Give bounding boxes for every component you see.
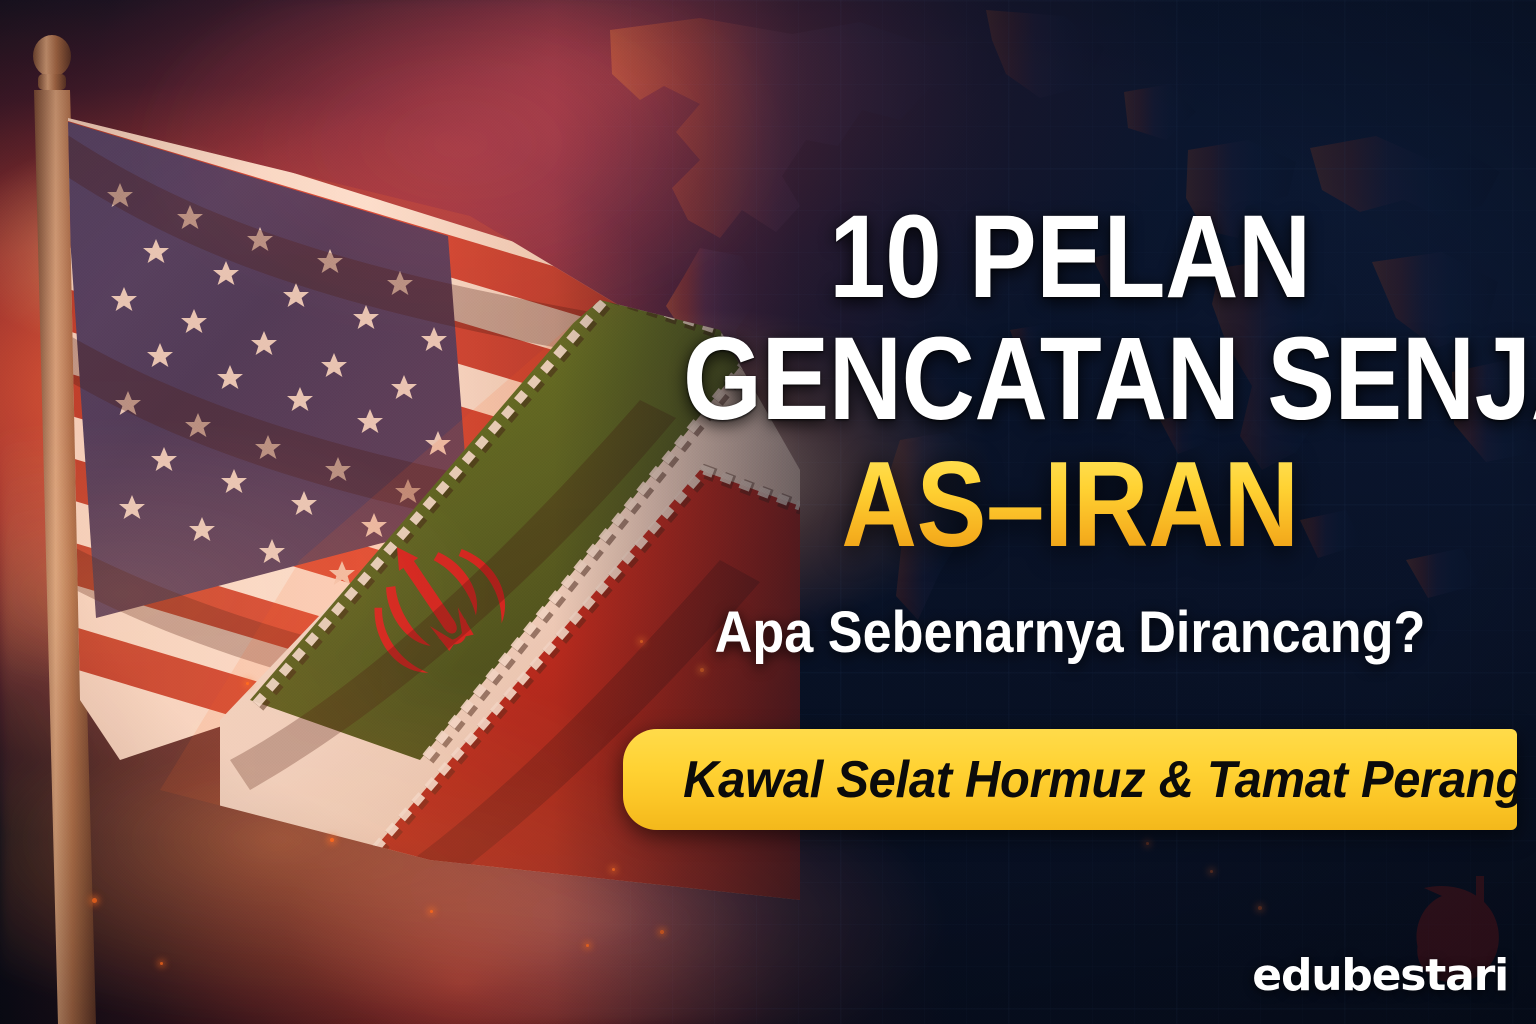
poster-canvas: 10 PELAN GENCATAN SENJATA AS–IRAN Apa Se… <box>0 0 1536 1024</box>
headline-line-3-accent: AS–IRAN <box>683 445 1457 565</box>
headline-block: 10 PELAN GENCATAN SENJATA AS–IRAN Apa Se… <box>620 200 1520 666</box>
highlight-banner: Kawal Selat Hormuz & Tamat Perang? <box>623 729 1517 830</box>
headline-line-2: GENCATAN SENJATA <box>683 322 1457 438</box>
brand-wordmark: edubestari <box>1252 954 1508 998</box>
subheadline: Apa Sebenarnya Dirancang? <box>665 599 1475 666</box>
highlight-banner-text: Kawal Selat Hormuz & Tamat Perang? <box>623 750 1517 810</box>
headline-line-1: 10 PELAN <box>683 200 1457 316</box>
brand-logo[interactable]: edubestari <box>1252 954 1508 998</box>
